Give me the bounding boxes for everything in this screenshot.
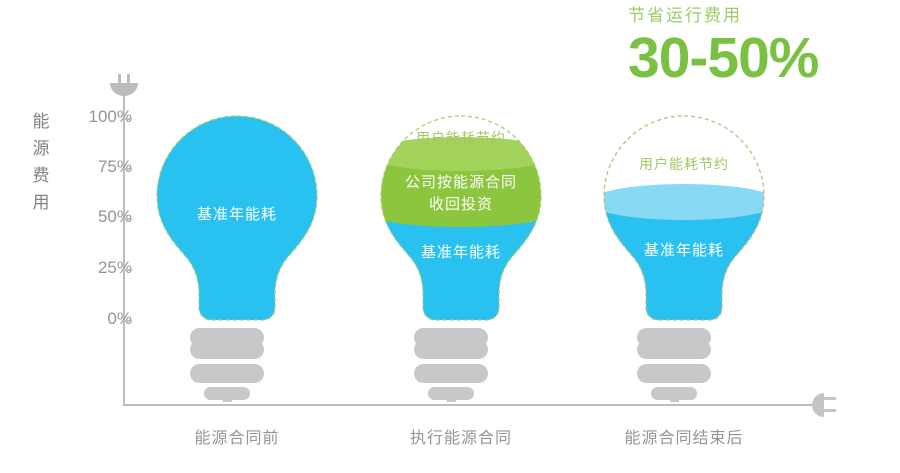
bulb-during-contract-green-label-line1: 公司按能源合同 [371, 172, 551, 194]
bulb-during-contract: 用户能耗节约 公司按能源合同 收回投资 基准年能耗 [371, 108, 551, 408]
y-axis-title: 能源费用 [30, 108, 52, 216]
bulb-during-contract-green-label-line2: 收回投资 [371, 194, 551, 216]
y-tick-label-50: 50% [72, 207, 132, 227]
y-axis-line [123, 96, 125, 406]
plug-icon [108, 74, 140, 100]
bulb-before-contract-fill-label: 基准年能耗 [147, 204, 327, 226]
y-tick-group-50: 50% [0, 218, 132, 219]
bulb-after-contract-fill-label: 基准年能耗 [594, 240, 774, 262]
y-tick-group-0: 0% [0, 320, 132, 321]
x-category-label-0: 能源合同前 [137, 424, 337, 448]
y-tick-label-0: 0% [72, 309, 132, 329]
y-tick-group-25: 25% [0, 269, 132, 270]
infographic-canvas: 节省运行费用 30-50% 能源费用 100% 75% 50% 25% [0, 0, 900, 473]
bulb-after-contract-save-label: 用户能耗节约 [594, 154, 774, 174]
bulb-during-contract-fill-label: 基准年能耗 [371, 242, 551, 264]
headline-block: 节省运行费用 30-50% [628, 4, 818, 88]
y-tick-label-100: 100% [72, 107, 132, 127]
socket-icon [808, 391, 838, 419]
bulb-during-contract-save-label: 用户能耗节约 [371, 128, 551, 148]
x-category-label-2: 能源合同结束后 [584, 424, 784, 448]
bulb-before-contract: 基准年能耗 [147, 108, 327, 408]
y-tick-group-75: 75% [0, 168, 132, 169]
y-tick-label-75: 75% [72, 157, 132, 177]
bulb-after-contract: 用户能耗节约 基准年能耗 [594, 108, 774, 408]
bulb-after-contract-art [594, 108, 774, 338]
x-category-label-1: 执行能源合同 [361, 424, 561, 448]
y-tick-label-25: 25% [72, 258, 132, 278]
headline-subtitle: 节省运行费用 [628, 4, 818, 28]
headline-value: 30-50% [628, 28, 818, 88]
y-tick-group-100: 100% [0, 118, 132, 119]
